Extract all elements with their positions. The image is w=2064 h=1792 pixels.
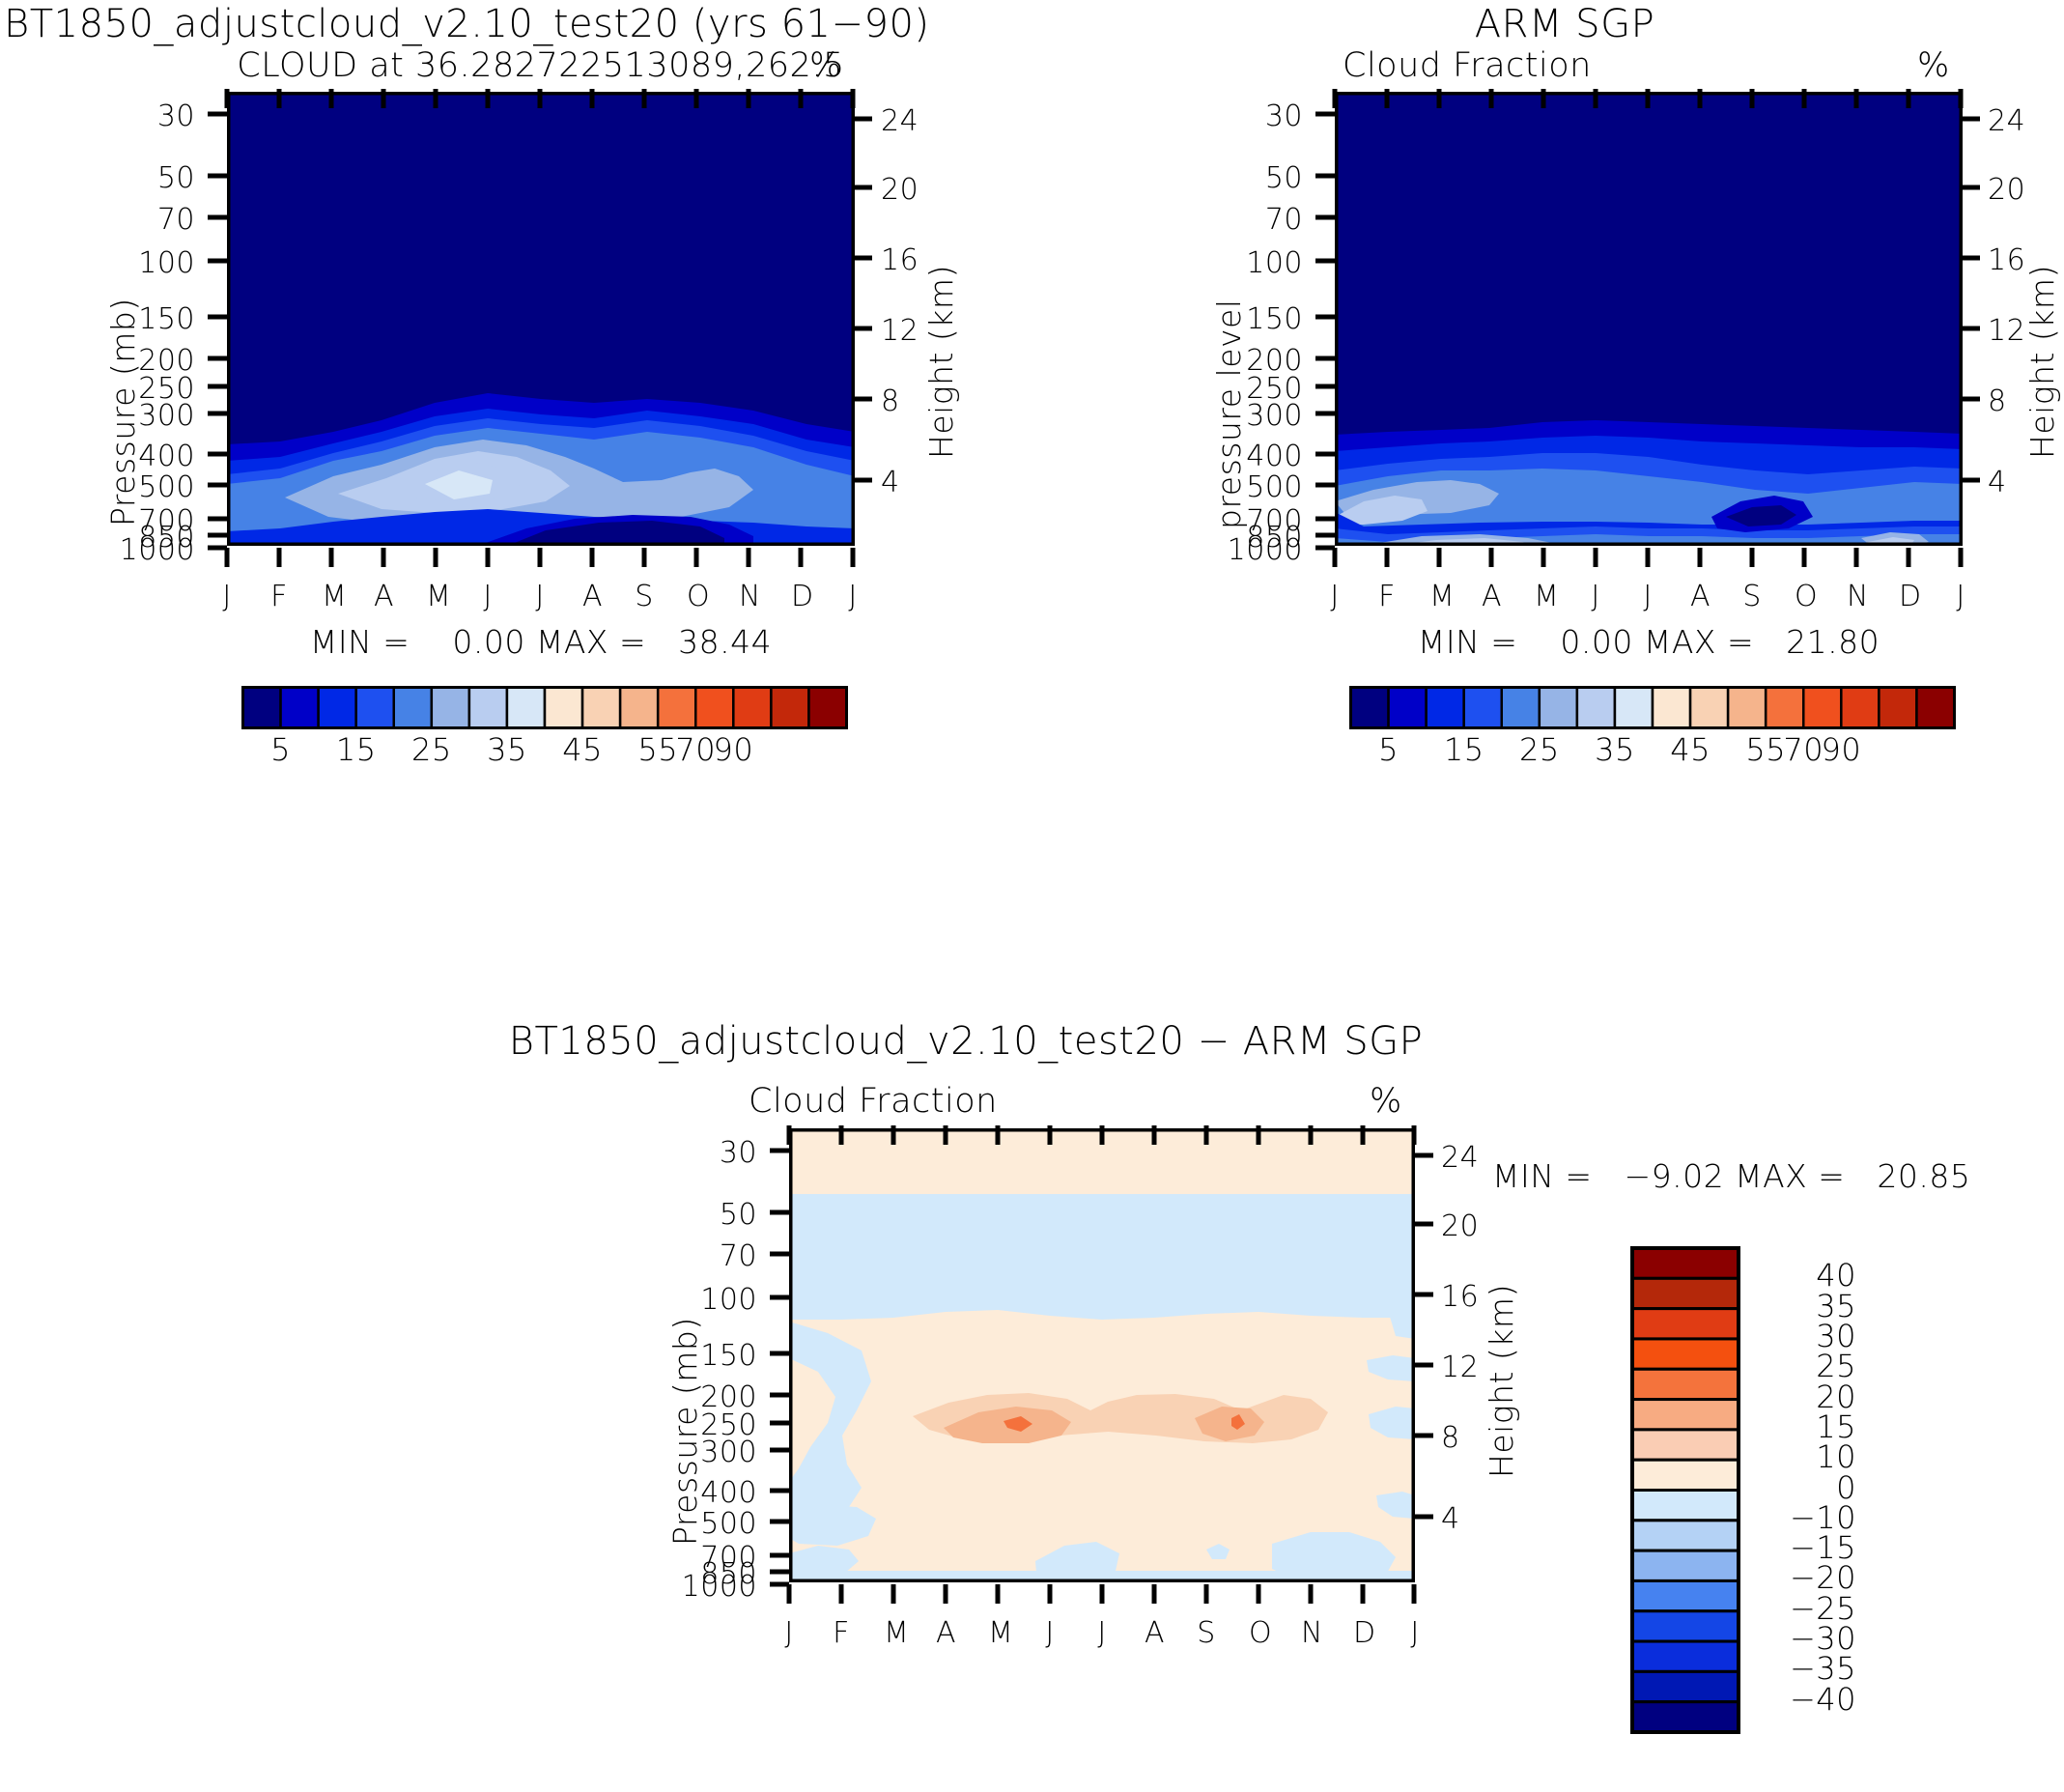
colorbar-swatch (582, 688, 620, 728)
ytick: 70 (106, 203, 195, 237)
colorbar-right-swatches (1349, 686, 1956, 729)
colorbar-swatch (1766, 688, 1803, 728)
colorbar-swatch (1879, 688, 1916, 728)
xtick: J (779, 1616, 799, 1650)
ytick: 30 (668, 1136, 757, 1170)
ytick-right: 4 (1988, 466, 2007, 499)
xtick: F (1377, 580, 1397, 613)
colorbar-swatch (432, 688, 469, 728)
colorbar-swatch (808, 688, 846, 728)
ytick: 1000 (1197, 533, 1303, 567)
colorbar-swatch (1632, 1580, 1739, 1610)
colorbar-swatch (1389, 688, 1427, 728)
xtick: J (1951, 580, 1970, 613)
ytick-right: 20 (1441, 1209, 1479, 1243)
xtick: O (687, 580, 706, 613)
ytick: 300 (1214, 399, 1303, 433)
colorbar-swatch (1632, 1309, 1739, 1339)
colorbar-swatch (658, 688, 695, 728)
panel-right-axes-ticks (1258, 72, 2064, 584)
xtick: O (1795, 580, 1814, 613)
colorbar-swatch (1632, 1339, 1739, 1369)
colorbar-swatch (319, 688, 356, 728)
xtick: A (1690, 580, 1710, 613)
colorbar-swatch (1632, 1491, 1739, 1521)
xtick: M (1429, 580, 1449, 613)
colorbar-swatch (469, 688, 507, 728)
colorbar-tick-label: 45 (555, 731, 609, 768)
colorbar-swatch (771, 688, 808, 728)
xtick: D (1899, 580, 1918, 613)
colorbar-swatch (1632, 1550, 1739, 1580)
colorbar-right[interactable] (1349, 686, 1956, 729)
colorbar-tick-label: 45 (1663, 731, 1717, 768)
ytick: 50 (668, 1198, 757, 1232)
xtick: N (1847, 580, 1866, 613)
colorbar-tick-label: 15 (1437, 731, 1491, 768)
ytick-right: 24 (881, 104, 919, 138)
colorbar-swatch (1502, 688, 1540, 728)
colorbar-swatch (1351, 688, 1389, 728)
figure-title-right: ARM SGP (1256, 2, 1874, 46)
xtick: J (1405, 1616, 1425, 1650)
xtick: N (1301, 1616, 1320, 1650)
xtick: N (739, 580, 758, 613)
colorbar-swatch (1632, 1369, 1739, 1399)
xtick: J (1638, 580, 1657, 613)
ytick-right: 8 (1441, 1421, 1460, 1455)
ytick: 500 (1214, 470, 1303, 504)
colorbar-tick-label: 5 (1362, 731, 1416, 768)
colorbar-swatch (620, 688, 658, 728)
colorbar-tick-label: 15 (329, 731, 383, 768)
xtick: J (530, 580, 550, 613)
colorbar-tick-label: 35 (1588, 731, 1642, 768)
ytick: 1000 (89, 533, 195, 567)
colorbar-swatch (1653, 688, 1690, 728)
xtick: M (322, 580, 341, 613)
panel-left-minmax: MIN = 0.00 MAX = 38.44 (227, 623, 855, 661)
colorbar-tick-label: −40 (1750, 1681, 1856, 1718)
colorbar-tick-label: 25 (405, 731, 459, 768)
xtick: S (1742, 580, 1762, 613)
colorbar-swatch (1632, 1460, 1739, 1490)
colorbar-swatch (281, 688, 319, 728)
colorbar-left[interactable] (241, 686, 848, 729)
colorbar-left-labels: 515253545557090 (241, 731, 848, 775)
colorbar-swatch (1803, 688, 1841, 728)
colorbar-swatch (1632, 1430, 1739, 1460)
colorbar-swatch (1632, 1248, 1739, 1278)
ytick: 300 (668, 1436, 757, 1469)
ytick: 150 (106, 302, 195, 336)
colorbar-diff[interactable] (1630, 1246, 1740, 1734)
ytick-right: 20 (881, 173, 919, 207)
ytick-right: 16 (881, 243, 919, 277)
ytick-right: 16 (1988, 243, 2025, 277)
colorbar-swatch (1577, 688, 1615, 728)
colorbar-tick-label: 5 (254, 731, 308, 768)
xtick: J (1092, 1616, 1112, 1650)
colorbar-diff-swatches (1630, 1246, 1740, 1734)
panel-right-minmax: MIN = 0.00 MAX = 21.80 (1335, 623, 1963, 661)
ytick: 500 (106, 470, 195, 504)
ytick-right: 12 (881, 314, 919, 348)
ytick: 400 (1214, 440, 1303, 473)
ytick-right: 24 (1441, 1141, 1479, 1175)
xtick: J (478, 580, 497, 613)
xtick: A (1145, 1616, 1164, 1650)
ytick: 1000 (651, 1570, 757, 1604)
xtick: S (1197, 1616, 1216, 1650)
figure-title-left: BT1850_adjustcloud_v2.10_test20 (yrs 61−… (4, 2, 930, 46)
ytick-right: 8 (881, 384, 900, 418)
xtick: S (635, 580, 654, 613)
ytick: 100 (668, 1283, 757, 1317)
ytick: 150 (1214, 302, 1303, 336)
colorbar-swatch (1632, 1278, 1739, 1308)
ytick: 100 (106, 246, 195, 280)
xtick: J (217, 580, 237, 613)
ytick: 30 (1214, 100, 1303, 133)
ytick-right: 20 (1988, 173, 2025, 207)
colorbar-swatch (1728, 688, 1766, 728)
ytick: 300 (106, 399, 195, 433)
ytick: 50 (1214, 161, 1303, 195)
panel-bottom-minmax: MIN = −9.02 MAX = 20.85 (1492, 1157, 1970, 1195)
colorbar-swatch (1540, 688, 1577, 728)
colorbar-swatch (356, 688, 394, 728)
xtick: D (1353, 1616, 1372, 1650)
ytick: 500 (668, 1507, 757, 1541)
colorbar-swatch (545, 688, 582, 728)
ytick: 150 (668, 1339, 757, 1373)
colorbar-swatch (733, 688, 771, 728)
xtick: D (791, 580, 810, 613)
xtick: J (1040, 1616, 1060, 1650)
colorbar-diff-labels: 403530252015100−10−15−20−25−30−35−40 (1750, 1246, 1905, 1734)
colorbar-tick-label: 90 (1814, 731, 1868, 768)
colorbar-tick-label: 35 (480, 731, 534, 768)
ytick-right: 24 (1988, 104, 2025, 138)
xtick: F (832, 1616, 851, 1650)
ytick-right: 12 (1988, 314, 2025, 348)
xtick: J (843, 580, 862, 613)
xtick: M (884, 1616, 903, 1650)
colorbar-swatch (1916, 688, 1954, 728)
ytick: 30 (106, 100, 195, 133)
xtick: J (1325, 580, 1344, 613)
colorbar-right-labels: 515253545557090 (1349, 731, 1956, 775)
ytick-right: 4 (1441, 1502, 1460, 1536)
ytick: 70 (1214, 203, 1303, 237)
colorbar-swatch (1615, 688, 1653, 728)
colorbar-swatch (1632, 1702, 1739, 1732)
xtick: A (582, 580, 602, 613)
ytick-right: 12 (1441, 1351, 1479, 1384)
colorbar-swatch (1632, 1400, 1739, 1430)
colorbar-swatch (1632, 1641, 1739, 1671)
xtick: A (936, 1616, 955, 1650)
ytick: 400 (106, 440, 195, 473)
colorbar-swatch (1690, 688, 1728, 728)
colorbar-swatch (1632, 1611, 1739, 1641)
xtick: M (988, 1616, 1007, 1650)
colorbar-tick-label: 90 (706, 731, 760, 768)
ytick-right: 16 (1441, 1280, 1479, 1314)
colorbar-swatch (394, 688, 432, 728)
colorbar-swatch (243, 688, 281, 728)
colorbar-tick-label: 25 (1513, 731, 1567, 768)
colorbar-swatch (507, 688, 545, 728)
xtick: M (1534, 580, 1553, 613)
colorbar-swatch (1632, 1521, 1739, 1550)
ytick: 400 (668, 1476, 757, 1510)
colorbar-swatch (1841, 688, 1879, 728)
xtick: A (1482, 580, 1501, 613)
ytick: 70 (668, 1239, 757, 1273)
colorbar-swatch (1464, 688, 1502, 728)
xtick: O (1249, 1616, 1268, 1650)
colorbar-left-swatches (241, 686, 848, 729)
xtick: A (374, 580, 393, 613)
ytick-right: 8 (1988, 384, 2007, 418)
xtick: F (269, 580, 289, 613)
xtick: M (426, 580, 445, 613)
colorbar-swatch (1427, 688, 1464, 728)
colorbar-swatch (695, 688, 733, 728)
ytick-right: 4 (881, 466, 900, 499)
ytick: 100 (1214, 246, 1303, 280)
figure-title-bottom: BT1850_adjustcloud_v2.10_test20 − ARM SG… (386, 1019, 1545, 1064)
colorbar-swatch (1632, 1671, 1739, 1701)
xtick: J (1586, 580, 1605, 613)
ytick: 50 (106, 161, 195, 195)
